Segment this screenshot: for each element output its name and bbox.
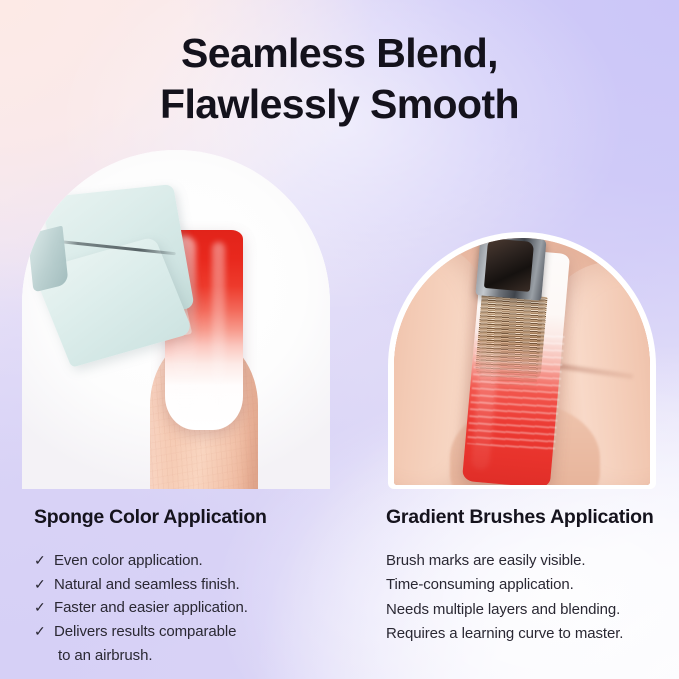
list-item: ✓Even color application.	[34, 549, 344, 573]
list-item: ✓Natural and seamless finish.	[34, 573, 344, 597]
list-item: Requires a learning curve to master.	[386, 622, 671, 646]
check-icon: ✓	[34, 573, 49, 595]
list-item-label: Faster and easier application.	[54, 596, 344, 620]
check-icon: ✓	[34, 620, 49, 642]
sponge-photo-art	[22, 150, 330, 489]
list-item: ✓to an airbrush.	[34, 644, 344, 668]
sponge-feature-list: ✓Even color application.✓Natural and sea…	[34, 549, 344, 667]
nail-gloss-highlight-secondary	[212, 242, 225, 414]
brush-application-photo	[388, 232, 656, 489]
list-item: Time-consuming application.	[386, 573, 671, 597]
sponge-column-title: Sponge Color Application	[34, 506, 344, 529]
list-item-label: to an airbrush.	[54, 644, 344, 668]
check-icon: ✓	[34, 596, 49, 618]
brush-photo-frame	[394, 238, 650, 485]
list-item: ✓Delivers results comparable	[34, 620, 344, 644]
sponge-column: Sponge Color Application ✓Even color app…	[34, 506, 344, 667]
brush-drawback-list: Brush marks are easily visible.Time-cons…	[386, 549, 671, 646]
list-item: ✓Faster and easier application.	[34, 596, 344, 620]
sponge-application-photo	[22, 150, 330, 489]
page-title: Seamless Blend, Flawlessly Smooth	[0, 28, 679, 131]
headline-line-2: Flawlessly Smooth	[0, 79, 679, 130]
brush-bristles-detail	[478, 296, 544, 397]
list-item-label: Even color application.	[54, 549, 344, 573]
list-item: Needs multiple layers and blending.	[386, 598, 671, 622]
check-icon: ✓	[34, 549, 49, 571]
brush-photo-art	[394, 238, 650, 485]
list-item-label: Delivers results comparable	[54, 620, 344, 644]
list-item: Brush marks are easily visible.	[386, 549, 671, 573]
sponge-clip	[27, 226, 68, 293]
headline-line-1: Seamless Blend,	[0, 28, 679, 79]
list-item-label: Natural and seamless finish.	[54, 573, 344, 597]
brush-handle-tip	[484, 238, 534, 292]
brush-column-title: Gradient Brushes Application	[386, 506, 671, 529]
brush-column: Gradient Brushes Application Brush marks…	[386, 506, 671, 646]
